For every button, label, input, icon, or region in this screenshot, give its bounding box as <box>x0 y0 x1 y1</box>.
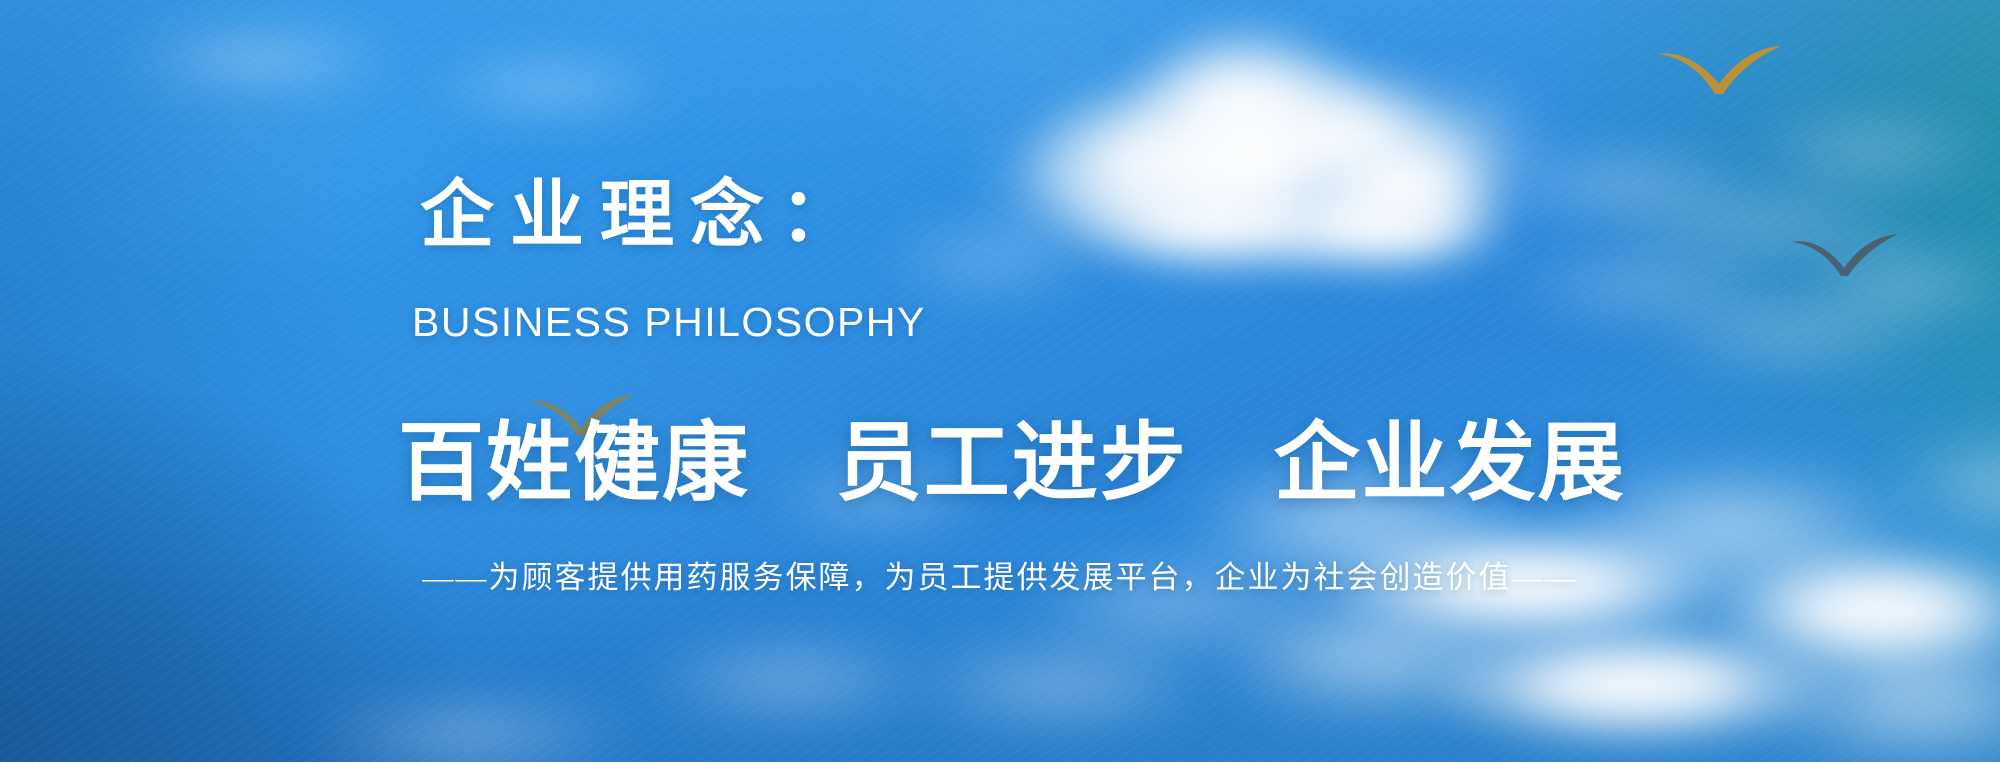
slogan-part-1: 百姓健康 <box>398 415 750 511</box>
business-philosophy-banner: 企业理念： BUSINESS PHILOSOPHY 百姓健康 员工进步 企业发展… <box>0 0 2000 762</box>
banner-text-block: 企业理念： BUSINESS PHILOSOPHY 百姓健康 员工进步 企业发展… <box>0 0 2000 762</box>
slogan-part-2: 员工进步 <box>836 415 1188 511</box>
slogan-line: 百姓健康 员工进步 企业发展 <box>398 420 1626 506</box>
page-title-chinese: 企业理念： <box>420 178 870 252</box>
slogan-part-3: 企业发展 <box>1274 415 1626 511</box>
tagline-text: ——为顾客提供用药服务保障，为员工提供发展平台，企业为社会创造价值—— <box>423 562 1578 593</box>
page-title-english: BUSINESS PHILOSOPHY <box>412 302 926 343</box>
